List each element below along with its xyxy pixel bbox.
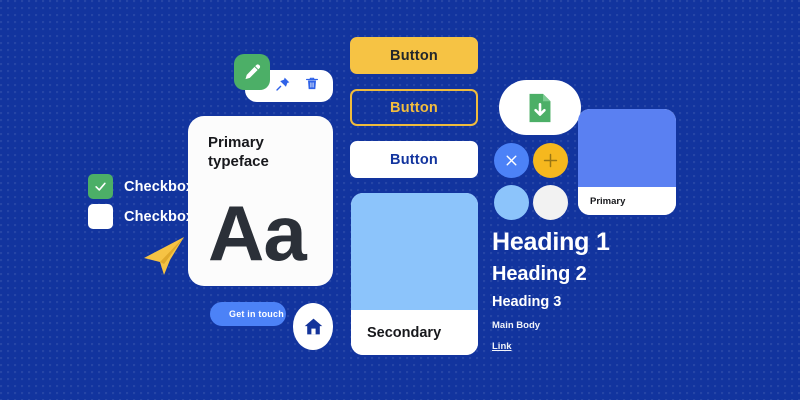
typography-scale: Heading 1 Heading 2 Heading 3 Main Body … xyxy=(492,228,672,353)
swatch-card-secondary: Secondary xyxy=(351,193,478,355)
edit-chip[interactable] xyxy=(234,54,270,90)
plus-icon xyxy=(541,151,560,170)
swatch-label: Secondary xyxy=(367,325,441,341)
swatch-circle-off-white[interactable] xyxy=(533,185,568,220)
swatch-footer: Secondary xyxy=(351,310,478,355)
link-sample[interactable]: Link xyxy=(492,341,512,353)
heading-2-sample: Heading 2 xyxy=(492,262,672,286)
close-icon xyxy=(503,152,520,169)
get-in-touch-button[interactable]: Get in touch xyxy=(210,302,286,326)
swatch-color-primary xyxy=(578,109,676,187)
close-circle-button[interactable] xyxy=(494,143,529,178)
pin-glyph xyxy=(275,76,291,92)
heading-1-sample: Heading 1 xyxy=(492,228,672,258)
swatch-card-primary: Primary xyxy=(578,109,676,215)
button-filled[interactable]: Button xyxy=(350,37,478,74)
heading-3-sample: Heading 3 xyxy=(492,293,672,311)
paper-plane-icon xyxy=(140,234,188,283)
get-in-touch-label: Get in touch xyxy=(229,309,284,319)
main-body-sample: Main Body xyxy=(492,320,672,332)
design-system-canvas: Checkbox Checkbox xyxy=(0,0,800,400)
button-outline[interactable]: Button xyxy=(350,89,478,126)
checkbox-row-checked[interactable]: Checkbox xyxy=(88,174,194,199)
pin-icon[interactable] xyxy=(275,76,291,97)
swatch-label: Primary xyxy=(590,196,625,207)
swatch-footer: Primary xyxy=(578,187,676,215)
home-icon xyxy=(303,316,324,337)
checkbox-checked[interactable] xyxy=(88,174,113,199)
check-icon xyxy=(93,179,108,194)
checkbox-row-unchecked[interactable]: Checkbox xyxy=(88,204,194,229)
trash-icon[interactable] xyxy=(304,75,320,97)
checkbox-label: Checkbox xyxy=(124,209,194,225)
swatch-circle-light-blue[interactable] xyxy=(494,185,529,220)
typeface-card-title: Primary typeface xyxy=(208,134,313,172)
trash-glyph xyxy=(304,75,320,92)
download-chip[interactable] xyxy=(499,80,581,135)
typeface-card: Primary typeface Aa xyxy=(188,116,333,286)
home-chip[interactable] xyxy=(293,303,333,350)
button-white[interactable]: Button xyxy=(350,141,478,178)
add-circle-button[interactable] xyxy=(533,143,568,178)
paper-plane-glyph xyxy=(140,234,188,278)
file-download-icon xyxy=(525,92,555,124)
edit-pencil-icon xyxy=(242,62,262,82)
checkbox-unchecked[interactable] xyxy=(88,204,113,229)
typeface-sample: Aa xyxy=(208,194,313,272)
swatch-color-secondary xyxy=(351,193,478,310)
checkbox-label: Checkbox xyxy=(124,179,194,195)
